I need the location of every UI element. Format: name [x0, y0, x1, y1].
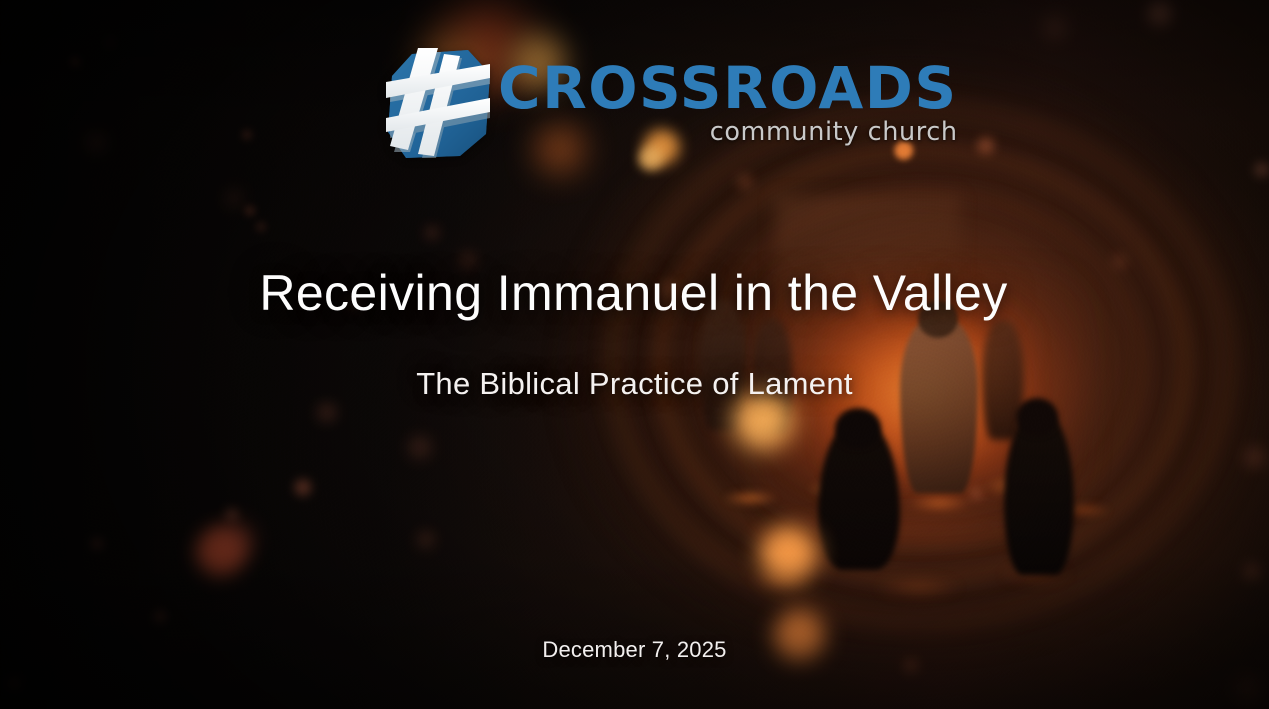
crossroads-logo[interactable]: CROSSROADS community church	[386, 48, 958, 160]
slide-date: December 7, 2025	[0, 637, 1269, 663]
logo-wordmark: CROSSROADS	[498, 62, 958, 115]
logo-tagline: community church	[710, 117, 958, 147]
logo-text-group: CROSSROADS community church	[498, 48, 958, 147]
crossroads-cross-logo-mark-icon	[386, 48, 494, 160]
nativity-silhouette-foreground-right-head	[1016, 398, 1058, 436]
nativity-silhouette-foreground-left-head	[835, 408, 881, 448]
nativity-figure-kneeling-magi	[900, 318, 978, 493]
sermon-title-slide: CROSSROADS community church Receiving Im…	[0, 0, 1269, 709]
slide-subtitle: The Biblical Practice of Lament	[0, 366, 1269, 402]
slide-title: Receiving Immanuel in the Valley	[0, 264, 1268, 322]
